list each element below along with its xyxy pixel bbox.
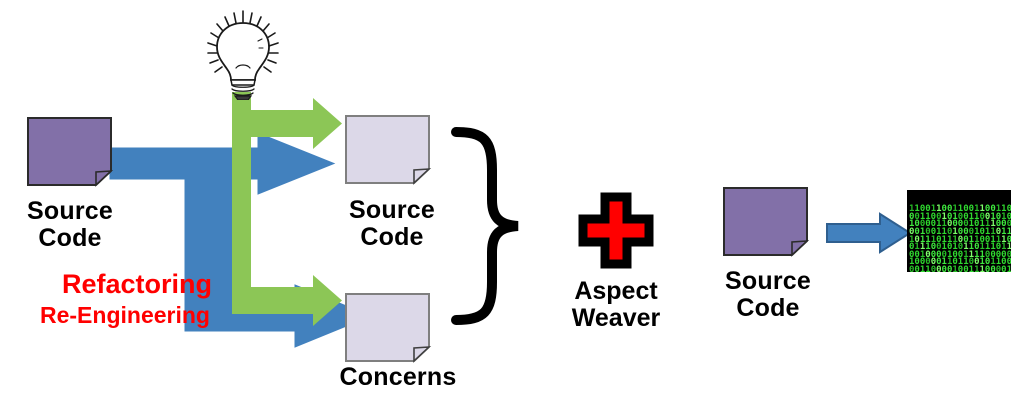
label-line-1: Aspect [574, 277, 657, 305]
label-line-2: Code [38, 224, 101, 252]
compile-arrow [824, 210, 914, 256]
document-concerns [344, 292, 436, 364]
label-line-1: Source [349, 196, 435, 224]
label-aspect-weaver: Aspect Weaver [556, 278, 676, 332]
curly-brace-icon [448, 126, 558, 326]
lightbulb-icon [190, 5, 290, 100]
binary-rows: 1100110011001100110000010001100101001100… [909, 206, 1009, 272]
green-idea-arrow [232, 92, 342, 326]
label-concerns: Concerns [328, 364, 468, 391]
label-line-2: Code [360, 223, 423, 251]
label-source-code-output: Source Code [332, 197, 452, 251]
label-line-1: Source [725, 267, 811, 295]
annotation-refactoring: Refactoring [62, 270, 212, 299]
aspect-weaver-plus-icon [576, 192, 656, 272]
document-source-code-input [26, 116, 118, 188]
annotation-re-engineering: Re-Engineering [40, 303, 210, 328]
document-source-code-output [344, 114, 436, 186]
binary-output-image: 1100110011001100110000010001100101001100… [907, 190, 1011, 272]
document-source-code-woven [722, 186, 814, 258]
label-line-1: Source [27, 197, 113, 225]
diagram-canvas: Source Code Refactoring Re-Engineering S… [0, 0, 1028, 420]
label-source-code-input: Source Code [10, 198, 130, 252]
label-source-code-woven: Source Code [708, 268, 828, 322]
label-line-2: Code [736, 294, 799, 322]
label-line-2: Weaver [572, 304, 661, 332]
